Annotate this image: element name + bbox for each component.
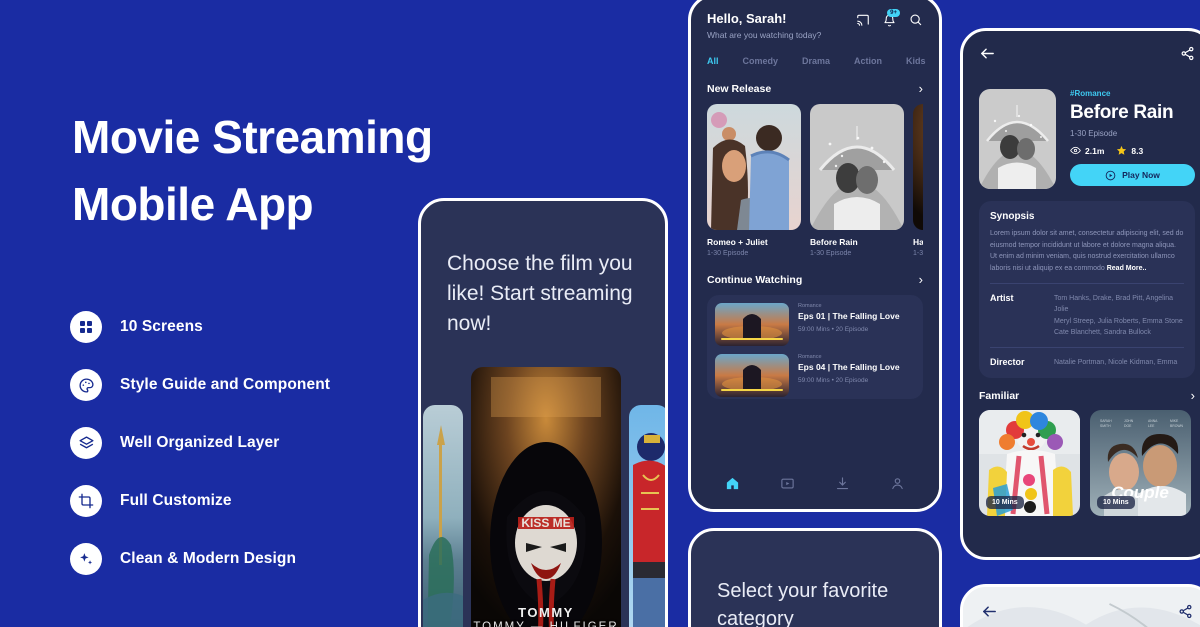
tab-kids[interactable]: Kids	[906, 56, 926, 66]
familiar-header: Familiar ›	[979, 389, 1195, 402]
duration-badge: 10 Mins	[1097, 496, 1135, 509]
movie-title: Halloween	[913, 237, 923, 247]
familiar-list: 10 Mins SARAHJOHNANNAMIKE SMITHDOELEEBRO…	[979, 410, 1195, 516]
list-item[interactable]: Romance Eps 04 | The Falling Love 59:00 …	[715, 354, 915, 397]
movie-title: Romeo + Juliet	[707, 237, 801, 247]
greeting-block: Hello, Sarah! What are you watching toda…	[707, 11, 821, 40]
poster-card-red-uniform[interactable]	[629, 405, 668, 627]
tab-comedy[interactable]: Comedy	[743, 56, 779, 66]
episode-meta: 59:00 Mins • 20 Episode	[798, 326, 915, 333]
detail-genre: #Romance	[1070, 89, 1195, 98]
bottom-navigation	[691, 457, 939, 509]
episode-thumbnail	[715, 303, 789, 346]
onboarding-film-screen: Choose the film you like! Start streamin…	[418, 198, 668, 627]
duration-badge: 10 Mins	[986, 496, 1024, 509]
layers-icon	[70, 427, 102, 459]
familiar-card[interactable]: SARAHJOHNANNAMIKE SMITHDOELEEBROWN Coupl…	[1090, 410, 1191, 516]
cast-icon[interactable]	[856, 13, 870, 27]
onboarding-category-heading: Select your favorite category	[691, 531, 939, 627]
svg-text:MIKE: MIKE	[1170, 419, 1179, 423]
movie-subtitle: 1-30 Episode	[913, 250, 923, 257]
svg-text:SMITH: SMITH	[1100, 424, 1111, 428]
views-stat: 2.1m	[1070, 145, 1104, 156]
synopsis-text: Lorem ipsum dolor sit amet, consectetur …	[990, 230, 1183, 272]
movie-card[interactable]: Romeo + Juliet 1-30 Episode	[707, 104, 801, 257]
home-icon[interactable]	[725, 476, 740, 491]
detail-header	[979, 45, 1195, 67]
detail-episodes: 1-30 Episode	[1070, 129, 1195, 138]
notification-icon[interactable]: 9+	[883, 14, 896, 27]
views-value: 2.1m	[1085, 146, 1104, 156]
episode-title: Eps 01 | The Falling Love	[798, 311, 915, 321]
poster-carousel[interactable]: KISS ME TOMMY TOMMY ▬ HILFIGER	[421, 367, 665, 627]
svg-text:KISS ME: KISS ME	[521, 516, 570, 530]
credit-value: Natalie Portman, Nicole Kidman, Emma	[1054, 357, 1177, 368]
search-icon[interactable]	[909, 13, 923, 27]
svg-text:SARAH: SARAH	[1100, 419, 1112, 423]
sparkle-icon	[70, 543, 102, 575]
share-icon[interactable]	[1180, 46, 1195, 66]
movie-thumbnail: TOMMY	[913, 104, 923, 230]
detail-hero: #Romance Before Rain 1-30 Episode 2.1m	[979, 89, 1195, 189]
tab-all[interactable]: All	[707, 56, 719, 66]
tab-action[interactable]: Action	[854, 56, 882, 66]
episode-genre: Romance	[798, 303, 915, 309]
onboarding-film-heading: Choose the film you like! Start streamin…	[421, 201, 665, 338]
onboarding-category-screen: Select your favorite category	[688, 528, 942, 627]
poster-card-kiss-me[interactable]: KISS ME TOMMY TOMMY ▬ HILFIGER	[471, 367, 621, 627]
poster-caption: TOMMY ▬ HILFIGER	[471, 621, 621, 627]
episode-thumbnail	[715, 354, 789, 397]
section-title: Familiar	[979, 390, 1019, 402]
section-title: New Release	[707, 83, 771, 95]
movie-title: Before Rain	[810, 237, 904, 247]
back-arrow-icon[interactable]	[981, 603, 998, 625]
play-now-label: Play Now	[1122, 170, 1160, 180]
feature-label: Clean & Modern Design	[120, 550, 296, 568]
movie-subtitle: 1-30 Episode	[707, 250, 801, 257]
familiar-card[interactable]: 10 Mins	[979, 410, 1080, 516]
movie-card[interactable]: Before Rain 1-30 Episode	[810, 104, 904, 257]
home-header: Hello, Sarah! What are you watching toda…	[707, 11, 923, 40]
rating-value: 8.3	[1131, 146, 1143, 156]
feature-label: Well Organized Layer	[120, 434, 279, 452]
download-icon[interactable]	[835, 476, 850, 491]
progress-bar	[721, 338, 783, 340]
new-release-header: New Release ›	[707, 82, 923, 95]
episode-title: Eps 04 | The Falling Love	[798, 362, 915, 372]
synopsis-body: Lorem ipsum dolor sit amet, consectetur …	[990, 228, 1184, 274]
play-icon	[1105, 170, 1116, 181]
progress-bar	[721, 389, 783, 391]
divider	[990, 347, 1184, 348]
read-more-link[interactable]: Read More..	[1107, 265, 1147, 272]
category-tabs: All Comedy Drama Action Kids	[707, 56, 923, 66]
continue-watching-list: Romance Eps 01 | The Falling Love 59:00 …	[707, 295, 923, 399]
feature-label: Full Customize	[120, 492, 232, 510]
chevron-right-icon[interactable]: ›	[1191, 389, 1195, 402]
synopsis-card: Synopsis Lorem ipsum dolor sit amet, con…	[979, 201, 1195, 378]
list-item[interactable]: Romance Eps 01 | The Falling Love 59:00 …	[715, 303, 915, 346]
greeting-text: Hello, Sarah!	[707, 11, 821, 26]
notification-badge: 9+	[887, 9, 900, 17]
svg-text:JOHN: JOHN	[1124, 419, 1134, 423]
detail-poster	[979, 89, 1056, 189]
greeting-subtext: What are you watching today?	[707, 30, 821, 40]
chevron-right-icon[interactable]: ›	[919, 82, 923, 95]
poster-card-aquaman[interactable]	[423, 405, 463, 627]
feature-label: Style Guide and Component	[120, 376, 330, 394]
movie-thumbnail	[707, 104, 801, 230]
header-actions: 9+	[856, 11, 923, 27]
chevron-right-icon[interactable]: ›	[919, 273, 923, 286]
episode-genre: Romance	[798, 354, 915, 360]
svg-text:BROWN: BROWN	[1170, 424, 1184, 428]
credit-key: Artist	[990, 293, 1042, 338]
svg-text:TOMMY: TOMMY	[518, 605, 574, 620]
grid-icon	[70, 311, 102, 343]
continue-watching-header: Continue Watching ›	[707, 273, 923, 286]
palette-icon	[70, 369, 102, 401]
detail-title: Before Rain	[1070, 102, 1195, 124]
detail-header-secondary	[963, 587, 1200, 627]
detail-stats: 2.1m 8.3	[1070, 145, 1195, 156]
movie-detail-screen-secondary	[960, 584, 1200, 627]
credit-value: Tom Hanks, Drake, Brad Pitt, Angelina Jo…	[1054, 293, 1184, 338]
divider	[990, 283, 1184, 284]
new-release-list[interactable]: Romeo + Juliet 1-30 Episode	[707, 104, 923, 257]
credit-row-artist: Artist Tom Hanks, Drake, Brad Pitt, Ange…	[990, 293, 1184, 338]
movie-card[interactable]: TOMMY Halloween 1-30 Episode	[913, 104, 923, 257]
svg-text:DOE: DOE	[1124, 424, 1132, 428]
profile-icon[interactable]	[890, 476, 905, 491]
svg-text:LEE: LEE	[1148, 424, 1155, 428]
synopsis-title: Synopsis	[990, 211, 1184, 222]
episode-meta: 59:00 Mins • 20 Episode	[798, 377, 915, 384]
section-title: Continue Watching	[707, 274, 802, 286]
star-icon	[1116, 145, 1127, 156]
feature-label: 10 Screens	[120, 318, 203, 336]
play-now-button[interactable]: Play Now	[1070, 164, 1195, 186]
credit-key: Director	[990, 357, 1042, 368]
rating-stat: 8.3	[1116, 145, 1143, 156]
crop-icon	[70, 485, 102, 517]
home-screen: Hello, Sarah! What are you watching toda…	[688, 0, 942, 512]
movie-subtitle: 1-30 Episode	[810, 250, 904, 257]
video-icon[interactable]	[780, 476, 795, 491]
poster-canvas: Movie Streaming Mobile App 10 Screens	[0, 0, 1200, 627]
tab-drama[interactable]: Drama	[802, 56, 830, 66]
movie-detail-screen: #Romance Before Rain 1-30 Episode 2.1m	[960, 28, 1200, 560]
back-arrow-icon[interactable]	[979, 45, 996, 67]
credit-row-director: Director Natalie Portman, Nicole Kidman,…	[990, 357, 1184, 368]
eye-icon	[1070, 145, 1081, 156]
share-icon[interactable]	[1178, 604, 1193, 624]
movie-thumbnail	[810, 104, 904, 230]
promo-title-line1: Movie Streaming	[72, 111, 433, 163]
svg-text:ANNA: ANNA	[1148, 419, 1158, 423]
